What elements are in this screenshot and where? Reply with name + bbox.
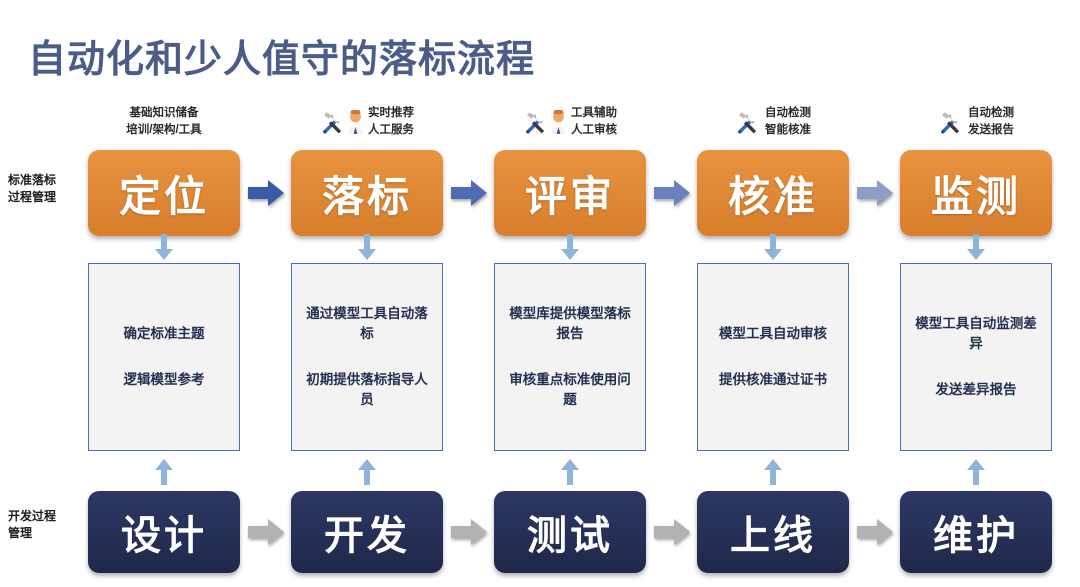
arrow-right-bottom-3 — [857, 517, 893, 547]
arrow-right-bottom-2 — [654, 517, 690, 547]
process-box-pingshen[interactable]: 评审 — [494, 150, 646, 236]
detail-box-0: 确定标准主题 逻辑模型参考 — [88, 263, 240, 451]
process-box-dingwei[interactable]: 定位 — [88, 150, 240, 236]
annotation-line1-4: 自动检测 — [968, 105, 1014, 122]
annotation-line2-4: 发送报告 — [968, 122, 1014, 139]
person-icon — [347, 110, 364, 134]
connector-arrow-down-1 — [358, 234, 376, 260]
detail-text-4-0: 模型工具自动监测差异 — [911, 314, 1041, 355]
annotation-icons-1 — [320, 109, 364, 135]
annotation-3: 自动检测 智能核准 — [697, 100, 849, 144]
arrow-right-bottom-0 — [248, 517, 284, 547]
detail-text-4-1: 发送差异报告 — [936, 380, 1017, 400]
annotation-line2-2: 人工审核 — [571, 122, 617, 139]
process-box-luobiao[interactable]: 落标 — [291, 150, 443, 236]
detail-box-1: 通过模型工具自动落标 初期提供落标指导人员 — [291, 263, 443, 451]
row-label-standard-process: 标准落标 过程管理 — [8, 172, 82, 207]
detail-text-0-0: 确定标准主题 — [124, 324, 205, 344]
tools-icon — [938, 109, 964, 135]
connector-arrow-down-3 — [764, 234, 782, 260]
row-label-standard-line2: 过程管理 — [8, 189, 82, 206]
row-label-dev-line1: 开发过程 — [8, 508, 82, 525]
arrow-right-bottom-1 — [451, 517, 487, 547]
annotation-line1-3: 自动检测 — [765, 105, 811, 122]
annotation-4: 自动检测 发送报告 — [900, 100, 1052, 144]
tools-icon — [735, 109, 761, 135]
connector-arrow-up-1 — [358, 459, 376, 485]
annotation-line1-2: 工具辅助 — [571, 105, 617, 122]
connector-arrow-down-2 — [561, 234, 579, 260]
detail-box-2: 模型库提供模型落标报告 审核重点标准使用问题 — [494, 263, 646, 451]
detail-box-4: 模型工具自动监测差异 发送差异报告 — [900, 263, 1052, 451]
row-label-standard-line1: 标准落标 — [8, 172, 82, 189]
annotation-1: 实时推荐 人工服务 — [291, 100, 443, 144]
person-icon — [550, 110, 567, 134]
detail-text-1-0: 通过模型工具自动落标 — [302, 304, 432, 345]
detail-text-3-0: 模型工具自动审核 — [719, 324, 827, 344]
annotation-text-2: 工具辅助 人工审核 — [571, 105, 617, 138]
detail-text-3-1: 提供核准通过证书 — [719, 370, 827, 390]
annotation-line2-3: 智能核准 — [765, 122, 811, 139]
connector-arrow-down-0 — [155, 234, 173, 260]
connector-arrow-up-4 — [967, 459, 985, 485]
row-label-dev-line2: 管理 — [8, 525, 82, 542]
detail-text-1-1: 初期提供落标指导人员 — [302, 370, 432, 411]
arrow-right-top-1 — [451, 178, 487, 208]
detail-text-2-0: 模型库提供模型落标报告 — [505, 304, 635, 345]
tools-icon — [320, 109, 346, 135]
row-label-dev-process: 开发过程 管理 — [8, 508, 82, 543]
annotation-line2-1: 人工服务 — [368, 122, 414, 139]
annotation-0: 基础知识储备 培训/架构/工具 — [88, 100, 240, 144]
detail-text-2-1: 审核重点标准使用问题 — [505, 370, 635, 411]
page-title: 自动化和少人值守的落标流程 — [28, 28, 535, 83]
annotation-line2-0: 培训/架构/工具 — [126, 122, 201, 139]
process-box-jiance[interactable]: 监测 — [900, 150, 1052, 236]
process-box-hezhun[interactable]: 核准 — [697, 150, 849, 236]
annotation-icons-4 — [938, 109, 964, 135]
annotation-text-4: 自动检测 发送报告 — [968, 105, 1014, 138]
annotation-text-3: 自动检测 智能核准 — [765, 105, 811, 138]
connector-arrow-up-2 — [561, 459, 579, 485]
detail-box-3: 模型工具自动审核 提供核准通过证书 — [697, 263, 849, 451]
dev-box-weihu[interactable]: 维护 — [900, 491, 1052, 573]
annotation-icons-2 — [523, 109, 567, 135]
dev-box-ceshi[interactable]: 测试 — [494, 491, 646, 573]
dev-box-sheji[interactable]: 设计 — [88, 491, 240, 573]
annotation-line1-1: 实时推荐 — [368, 105, 414, 122]
connector-arrow-down-4 — [967, 234, 985, 260]
connector-arrow-up-0 — [155, 459, 173, 485]
annotation-2: 工具辅助 人工审核 — [494, 100, 646, 144]
connector-arrow-up-3 — [764, 459, 782, 485]
annotation-text-1: 实时推荐 人工服务 — [368, 105, 414, 138]
dev-box-kaifa[interactable]: 开发 — [291, 491, 443, 573]
tools-icon — [523, 109, 549, 135]
arrow-right-top-0 — [248, 178, 284, 208]
arrow-right-top-2 — [654, 178, 690, 208]
detail-text-0-1: 逻辑模型参考 — [124, 370, 205, 390]
annotation-line1-0: 基础知识储备 — [126, 105, 201, 122]
annotation-text-0: 基础知识储备 培训/架构/工具 — [126, 105, 201, 138]
annotation-icons-3 — [735, 109, 761, 135]
dev-box-shangxian[interactable]: 上线 — [697, 491, 849, 573]
arrow-right-top-3 — [857, 178, 893, 208]
